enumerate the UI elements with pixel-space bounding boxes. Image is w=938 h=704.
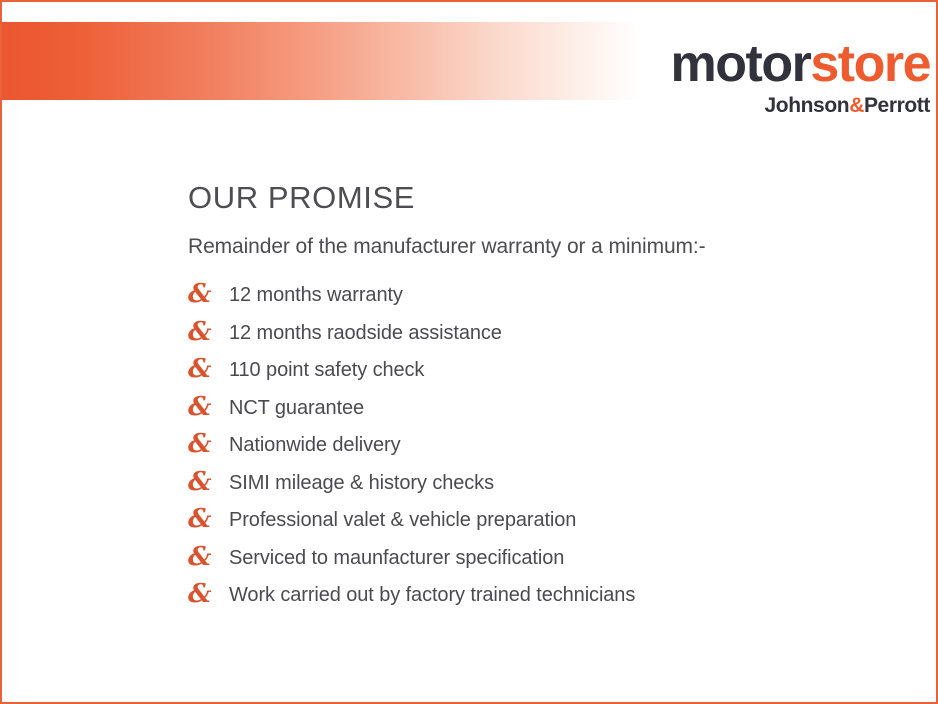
logo-motor-text: motor — [671, 35, 811, 93]
orange-gradient-bar — [0, 22, 639, 100]
header-banner: motorstore Johnson&Perrott — [0, 22, 938, 100]
list-item-label: NCT guarantee — [229, 397, 364, 419]
ampersand-bullet-icon: & — [188, 317, 214, 347]
logo-ampersand-icon: & — [849, 94, 864, 117]
brand-logo: motorstore Johnson&Perrott — [648, 36, 930, 118]
list-item-label: Serviced to maunfacturer specification — [229, 547, 564, 569]
list-item-label: Nationwide delivery — [229, 434, 401, 456]
logo-wordmark: motorstore — [648, 36, 930, 92]
list-item: & 110 point safety check — [188, 357, 908, 384]
ampersand-bullet-icon: & — [188, 504, 214, 534]
page-title: OUR PROMISE — [188, 180, 908, 216]
ampersand-bullet-icon: & — [188, 392, 214, 422]
logo-johnson-text: Johnson — [764, 94, 849, 117]
list-item: & Nationwide delivery — [188, 432, 908, 459]
content-area: OUR PROMISE Remainder of the manufacture… — [188, 180, 908, 620]
list-item-label: 12 months raodside assistance — [229, 322, 502, 344]
list-item-label: 12 months warranty — [229, 284, 403, 306]
page-subtitle: Remainder of the manufacturer warranty o… — [188, 234, 908, 260]
promise-list: & 12 months warranty & 12 months raodsid… — [188, 282, 908, 609]
promise-slide: motorstore Johnson&Perrott OUR PROMISE R… — [0, 0, 938, 704]
list-item-label: Work carried out by factory trained tech… — [229, 584, 635, 606]
list-item: & Work carried out by factory trained te… — [188, 582, 908, 609]
ampersand-bullet-icon: & — [188, 467, 214, 497]
list-item-label: Professional valet & vehicle preparation — [229, 509, 576, 531]
list-item: & Serviced to maunfacturer specification — [188, 545, 908, 572]
ampersand-bullet-icon: & — [188, 429, 214, 459]
logo-store-text: store — [810, 35, 930, 93]
list-item-label: 110 point safety check — [229, 359, 424, 381]
ampersand-bullet-icon: & — [188, 279, 214, 309]
ampersand-bullet-icon: & — [188, 579, 214, 609]
logo-subtitle: Johnson&Perrott — [648, 94, 930, 118]
list-item-label: SIMI mileage & history checks — [229, 472, 494, 494]
ampersand-bullet-icon: & — [188, 354, 214, 384]
list-item: & SIMI mileage & history checks — [188, 470, 908, 497]
ampersand-bullet-icon: & — [188, 542, 214, 572]
list-item: & 12 months warranty — [188, 282, 908, 309]
list-item: & 12 months raodside assistance — [188, 320, 908, 347]
logo-perrott-text: Perrott — [864, 94, 930, 117]
list-item: & Professional valet & vehicle preparati… — [188, 507, 908, 534]
list-item: & NCT guarantee — [188, 395, 908, 422]
